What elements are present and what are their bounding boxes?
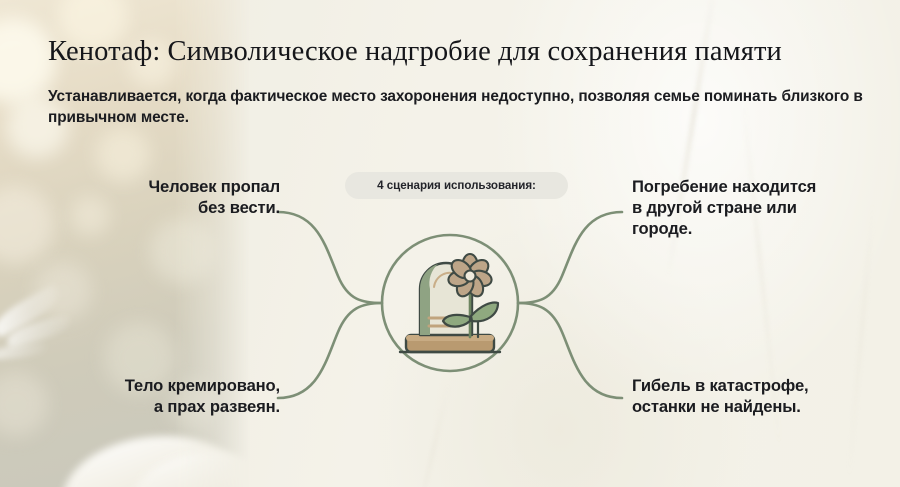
- connector-bottom-right: [518, 303, 622, 398]
- branch-label-disaster-no-remains: Гибель в катастрофе,останки не найдены.: [632, 375, 872, 417]
- gravestone-with-flower-icon: [382, 235, 518, 371]
- flower-centre: [465, 271, 476, 282]
- leaf-right: [471, 303, 498, 322]
- branch-label-cremated-scattered: Тело кремировано,а прах развеян.: [60, 375, 280, 417]
- connector-top-left: [278, 212, 382, 303]
- branch-label-burial-elsewhere: Погребение находитсяв другой стране илиг…: [632, 176, 872, 239]
- connector-top-right: [518, 212, 622, 303]
- soil-base-group: [406, 335, 494, 352]
- leaf-left: [443, 315, 470, 327]
- branch-label-missing-person: Человек пропалбез вести.: [60, 176, 280, 218]
- slide-canvas: Кенотаф: Символическое надгробие для сох…: [0, 0, 900, 487]
- scenario-count-badge: 4 сценария использования:: [345, 172, 568, 199]
- connector-bottom-left: [278, 303, 382, 398]
